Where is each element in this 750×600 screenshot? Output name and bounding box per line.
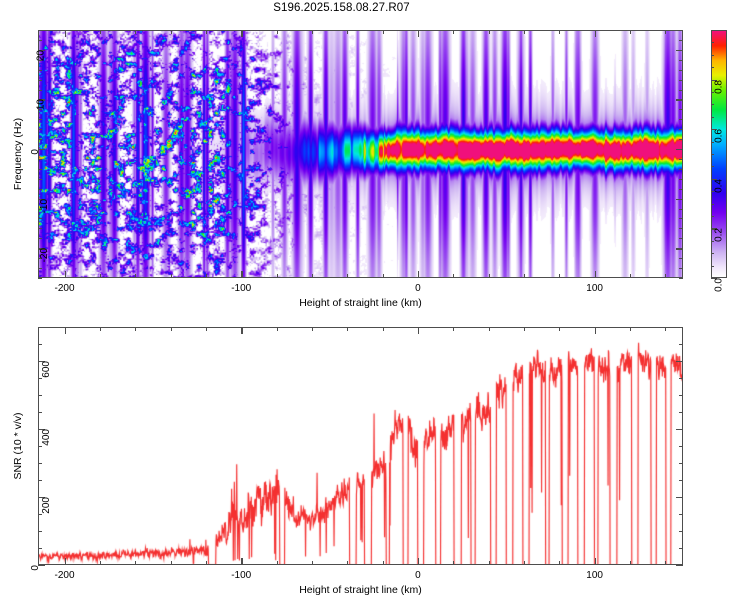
- snr-xtick-label: 0: [415, 570, 421, 581]
- spectrogram-plot: [38, 30, 683, 278]
- spectrogram-xtick-label: -100: [231, 283, 251, 294]
- spectrogram-ytick-minor: [38, 278, 42, 279]
- snr-xtick-label: -100: [231, 570, 251, 581]
- colorbar-gradient: [712, 31, 726, 277]
- colorbar: [711, 30, 727, 278]
- snr-ytick-label: 0: [30, 565, 41, 571]
- colorbar-tick-major: [711, 278, 717, 279]
- spectrogram-xtick-label: -200: [54, 283, 74, 294]
- snr-ytick-minor: [38, 565, 42, 566]
- spectrogram-yaxis-title: Frequency (Hz): [12, 118, 24, 190]
- colorbar-tick-label: 0.0: [713, 278, 724, 292]
- colorbar-tick-minor: [711, 278, 714, 279]
- spectrogram-xtick-label: 0: [415, 283, 421, 294]
- snr-ytick-major: [38, 565, 45, 566]
- snr-xtick-label: 100: [586, 570, 603, 581]
- spectrogram-ytick-minor-right: [679, 278, 683, 279]
- snr-ytick-major-right: [676, 565, 683, 566]
- snr-xtick-label: -200: [54, 570, 74, 581]
- snr-yaxis-title: SNR (10 * v/v): [12, 412, 24, 479]
- figure-root: S196.2025.158.08.27.R07 -200-1000100-20-…: [0, 0, 750, 600]
- spectrogram-xtick-label: 100: [586, 283, 603, 294]
- snr-canvas: [39, 328, 683, 565]
- spectrogram-xaxis-title: Height of straight line (km): [299, 297, 422, 309]
- snr-plot: [38, 327, 683, 565]
- snr-xaxis-title: Height of straight line (km): [299, 584, 422, 596]
- spectrogram-canvas: [39, 31, 683, 278]
- snr-ytick-minor-right: [679, 565, 683, 566]
- page-title: S196.2025.158.08.27.R07: [0, 2, 683, 14]
